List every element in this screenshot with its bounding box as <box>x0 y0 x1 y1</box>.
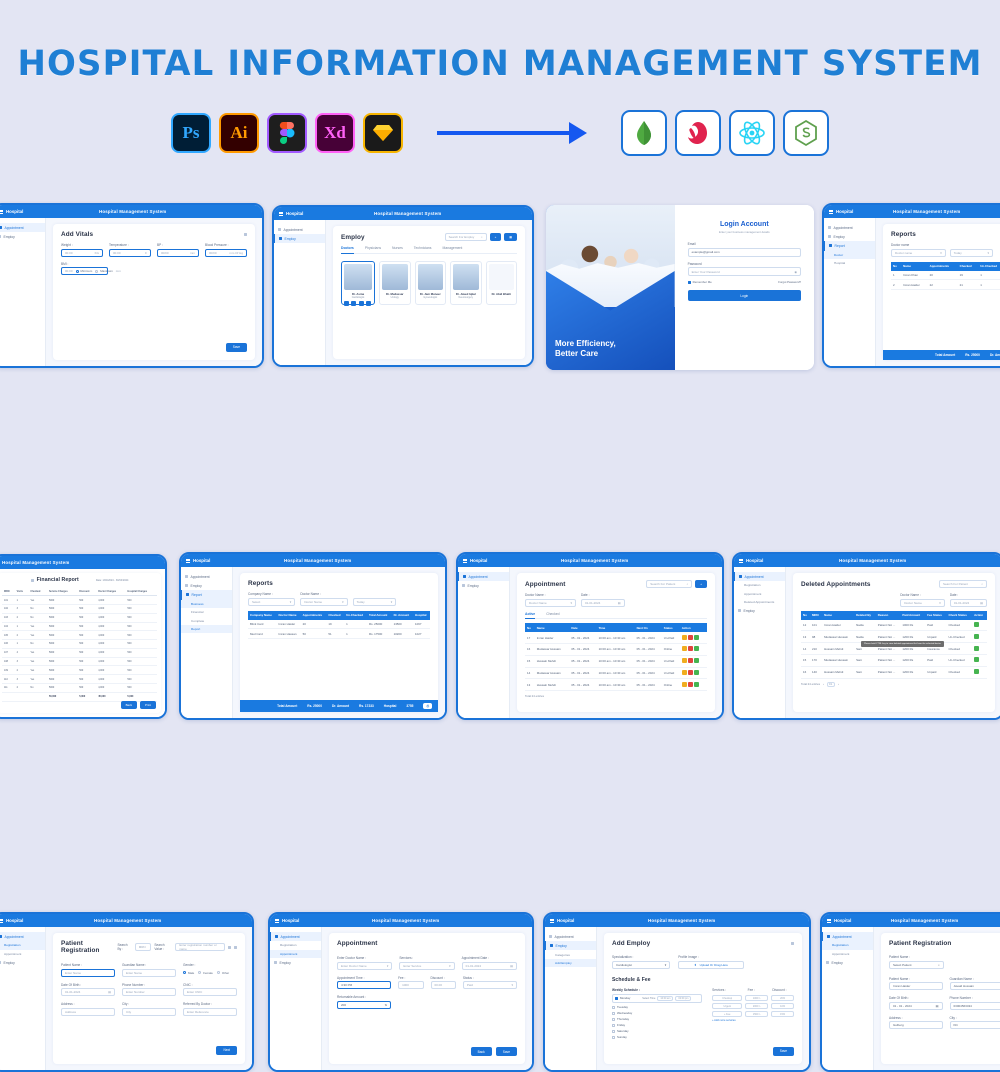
cell: Imran Haider <box>901 280 928 290</box>
search-by-label: Search By : <box>117 943 131 951</box>
tab-doctors[interactable]: Doctors <box>341 246 354 254</box>
sidebar-subitem-add-employ[interactable]: Add Employ <box>545 959 596 967</box>
sidebar-subitem-registration[interactable]: Registration <box>270 941 321 949</box>
field-value: 01-01-2024 <box>65 990 80 994</box>
login-heading: Login Account <box>688 221 801 228</box>
app-title: Hospital Management System <box>303 211 532 216</box>
sidebar-item-employ[interactable]: Employ <box>270 958 321 967</box>
search-by-select[interactable]: MRN <box>135 943 152 951</box>
field-label: Discount : <box>431 976 456 980</box>
sidebar-item-label: Employ <box>556 944 567 948</box>
gender-other-label: Other <box>222 971 229 975</box>
field-label: Gender : <box>183 963 237 967</box>
password-field[interactable]: Enter Your Password ◉ <box>688 267 801 276</box>
field-value: 01-01-2024 <box>466 964 481 968</box>
doctor-photo <box>418 264 444 290</box>
discount-input[interactable]: 20% <box>771 995 794 1001</box>
day-label: Saturday <box>617 1029 629 1033</box>
chevron-down-icon: ▾ <box>387 964 389 968</box>
topbar: Hospital Hospital Management System <box>0 205 262 218</box>
day-checkbox[interactable] <box>612 1036 615 1039</box>
calendar-icon[interactable]: ▤ <box>510 964 513 968</box>
sidebar-subitem-appointment[interactable]: Appointment <box>270 950 321 958</box>
field-label: Address : <box>889 1016 943 1020</box>
panel-title: Add Vitals <box>61 231 93 238</box>
day-checkbox[interactable] <box>612 1012 615 1015</box>
day-row[interactable]: Saturday <box>612 1029 702 1033</box>
bp-field[interactable]: BP : 00/00 mm <box>157 243 199 257</box>
login-tagline: More Efficiency, Better Care <box>555 339 616 359</box>
weekly-schedule-list[interactable]: MondaySelect Time10:00 am02:00 pmTuesday… <box>612 994 702 1040</box>
field-label: Enter Doctor Name : <box>337 956 392 960</box>
gender-male-radio[interactable] <box>183 971 186 974</box>
gender-field[interactable]: Gender : Male Female Other <box>183 963 237 977</box>
field-label: BP : <box>157 243 199 247</box>
field-value[interactable]: Enter Reference <box>183 1008 237 1016</box>
brand-label: Hospital <box>836 209 853 214</box>
field-label: Weight : <box>61 243 103 247</box>
field-value[interactable]: Javaid Hussain <box>950 982 1000 990</box>
field-value[interactable]: Enter CNIC <box>183 988 237 996</box>
search-input[interactable]: Search For Employ ⌕ <box>445 233 487 241</box>
sidebar-item-label: Appointment <box>5 935 24 939</box>
gender-other-radio[interactable] <box>217 971 220 974</box>
phone-field[interactable]: Phone Number : 03004563434 <box>950 996 1000 1010</box>
sidebar-subitem-registration[interactable]: Registration <box>822 941 873 949</box>
app-title: Hospital Management System <box>853 209 1000 214</box>
minimum-label: Minimum <box>81 269 93 273</box>
brand-label: Hospital <box>557 918 574 923</box>
menu-icon[interactable] <box>827 919 831 923</box>
address-field[interactable]: Address : Gulberg <box>889 1016 943 1030</box>
table-row[interactable]: 2 Imran Haider 22 21 1 <box>891 280 1000 290</box>
tagline-line-2: Better Care <box>555 349 616 359</box>
status-field[interactable]: Status : Paid ▾ <box>463 976 517 990</box>
brand-label: Hospital <box>282 918 299 923</box>
sidebar[interactable]: Appointment Registration Appointment Emp… <box>822 927 874 1070</box>
sidebar-item-label: Appointment <box>281 935 300 939</box>
sidebar-item-employ[interactable]: Employ <box>0 232 45 241</box>
city-field[interactable]: City : Khi <box>950 1016 1000 1030</box>
appointment-time-field[interactable]: Appointment Time : 4:30 PM <box>337 976 391 990</box>
returnable-amount-field[interactable]: Returnable Amount : 200 ⇅ <box>337 995 391 1009</box>
field-value: 200 <box>341 1003 346 1007</box>
fee-input[interactable]: 1000 /- <box>745 995 768 1001</box>
stepper-icon[interactable]: ⇅ <box>384 1003 387 1007</box>
sidebar-subitem-appointment[interactable]: Appointment <box>822 950 873 958</box>
chevron-down-icon: ▾ <box>940 251 942 255</box>
login-form[interactable]: Login Account Enter your business manage… <box>675 205 814 370</box>
sidebar-item-label: Employ <box>834 235 845 239</box>
field-label: Appointment Time : <box>337 976 391 980</box>
menu-icon[interactable] <box>275 919 279 923</box>
calendar-icon <box>549 935 552 938</box>
nestjs-icon <box>675 110 721 156</box>
settings-icon[interactable] <box>234 946 237 949</box>
screen-reports-doctor[interactable]: Hospital Hospital Management System Appo… <box>822 203 1000 368</box>
gender-female-label: Female <box>203 971 213 975</box>
dob-field[interactable]: Date Of Birth : 01 - 01 - 2024 ▤ <box>889 996 943 1010</box>
figma-icon <box>267 113 307 153</box>
brand-label: Hospital <box>6 918 23 923</box>
sketch-icon <box>363 113 403 153</box>
minimum-radio[interactable] <box>76 270 79 273</box>
users-icon <box>826 961 829 964</box>
day-row[interactable]: Friday <box>612 1023 702 1027</box>
calendar-icon <box>0 226 2 229</box>
sidebar-subitem-doctor[interactable]: Doctor <box>824 251 875 259</box>
close-icon[interactable] <box>244 233 247 236</box>
cell: 1 <box>978 271 1000 280</box>
delete-icon[interactable] <box>359 301 364 306</box>
field-value[interactable]: Imran Haider <box>889 982 943 990</box>
menu-icon[interactable] <box>0 919 3 923</box>
sidebar-item-appointment[interactable]: Appointment <box>0 932 45 941</box>
users-icon <box>0 961 1 964</box>
tab-nurses[interactable]: Nurses <box>392 246 403 250</box>
field-value[interactable]: 03004563434 <box>950 1002 1000 1010</box>
tab-management[interactable]: Management <box>443 246 463 250</box>
fee-input[interactable]: 2000 /- <box>745 1003 768 1009</box>
gender-female-radio[interactable] <box>198 971 201 974</box>
day-row[interactable]: Tuesday <box>612 1005 702 1009</box>
schedule-icon[interactable] <box>366 301 371 306</box>
field-value[interactable]: 00.00 <box>431 981 456 989</box>
doctor-card-list: Dr. Asma Cardiologist Dr. Mudassa <box>341 261 517 305</box>
field-value: 00.00 <box>65 251 73 255</box>
sidebar-item-label: Appointment <box>5 226 24 230</box>
referred-by-field[interactable]: Referred By Doctor : Enter Reference <box>183 1002 237 1016</box>
field-label: Guardian Name : <box>122 963 176 967</box>
screen-add-employ[interactable]: Hospital Hospital Management System Appo… <box>543 912 811 1072</box>
email-label: Email <box>688 242 801 246</box>
services-field[interactable]: Services : Enter Service ▾ <box>399 956 454 970</box>
field-label: Referred By Doctor : <box>183 1002 237 1006</box>
sidebar[interactable]: Appointment Employ Categories Add Employ <box>545 927 597 1070</box>
employ-tabs[interactable]: Doctors Physicians Nurses Technicians Ma… <box>341 246 517 254</box>
doctor-name: Dr. Javed Iqbal <box>453 292 479 296</box>
doctor-card[interactable]: Dr. Mudassar Urology <box>379 261 411 305</box>
cell: 21 <box>958 280 979 290</box>
field-value: Enter Doctor Name <box>341 964 367 968</box>
column-header: Name <box>901 262 928 271</box>
grid-view-button[interactable]: ▦ <box>504 233 517 241</box>
discount-col-label: Discount : <box>772 988 794 992</box>
cell: 20 <box>928 271 958 280</box>
login-hero: More Efficiency, Better Care <box>546 205 675 370</box>
illustrator-icon: Ai <box>219 113 259 153</box>
doctor-name-field[interactable]: Enter Doctor Name : Enter Doctor Name ▾ <box>337 956 392 970</box>
select-time-label: Select Time <box>642 997 655 1000</box>
users-icon <box>550 944 553 947</box>
sidebar-item-appointment[interactable]: Appointment <box>824 223 875 232</box>
field-unit: mm <box>116 269 121 273</box>
sidebar-item-appointment[interactable]: Appointment <box>274 225 325 234</box>
day-checkbox[interactable] <box>615 997 618 1000</box>
service-input[interactable]: + Fee <box>712 1011 742 1017</box>
panel-title: Appointment <box>337 940 517 947</box>
sidebar-item-employ[interactable]: Employ <box>545 941 596 950</box>
sidebar-item-appointment[interactable]: Appointment <box>0 223 45 232</box>
sidebar[interactable]: Appointment Employ <box>274 220 326 365</box>
address-field[interactable]: Address : Address <box>61 1002 115 1016</box>
login-button[interactable]: Login <box>688 290 801 301</box>
sidebar-subitem-categories[interactable]: Categories <box>545 950 596 958</box>
service-row[interactable]: Checkup1000 /-20% <box>712 995 794 1001</box>
filter-value: Doctor name <box>895 251 912 255</box>
chevron-down-icon: ▾ <box>665 963 667 967</box>
next-button[interactable]: Next <box>216 1046 237 1055</box>
menu-icon[interactable] <box>829 210 833 214</box>
doctor-filter-select[interactable]: Doctor name ▾ <box>891 249 946 257</box>
day-row[interactable]: Thursday <box>612 1017 702 1021</box>
app-title: Hospital Management System <box>851 918 1000 923</box>
bmi-field[interactable]: BMI : 00.00 Minimum Maximum mm <box>61 262 108 276</box>
field-label: Address : <box>61 1002 115 1006</box>
photoshop-icon: Ps <box>171 113 211 153</box>
field-label: City : <box>122 1002 176 1006</box>
vitals-field-row: Weight : 00.00 KG Temperature : 00.00 F … <box>61 243 247 257</box>
service-rows[interactable]: Checkup1000 /-20%Urgent2000 /-10%+ Fee15… <box>712 995 794 1017</box>
field-value[interactable]: Enter Number <box>122 988 176 996</box>
edit-icon[interactable] <box>344 301 349 306</box>
cell: 1 <box>978 280 1000 290</box>
cell: Imran Khan <box>901 271 928 280</box>
field-value: 00.00 <box>113 251 121 255</box>
email-field[interactable]: example@gmail.com <box>688 248 801 257</box>
maximum-label: Maximum <box>100 269 113 273</box>
view-icon[interactable] <box>351 301 356 306</box>
service-row[interactable]: Urgent2000 /-10% <box>712 1003 794 1009</box>
search-value-input[interactable]: Enter registration number or name <box>175 943 225 951</box>
blood-pressure-field[interactable]: Blood Pressure : 00/00 mm Of Hg <box>205 243 247 257</box>
guardian-name-field[interactable]: Guardian Name : Javaid Hussain <box>950 977 1000 991</box>
add-more-services-link[interactable]: + Add more services <box>712 1019 794 1022</box>
sidebar-item-label: Employ <box>832 961 843 965</box>
eye-icon[interactable]: ◉ <box>794 270 797 274</box>
field-value: Cardiologist <box>616 963 632 967</box>
field-value[interactable]: Enter Name <box>61 969 115 977</box>
field-value[interactable]: 4:30 PM <box>337 981 391 989</box>
page-title: HOSPITAL INFORMATION MANAGEMENT SYSTEM <box>15 0 985 84</box>
table-row[interactable]: 1 Imran Khan 20 19 1 <box>891 271 1000 280</box>
day-label: Sunday <box>617 1035 627 1039</box>
column-header: No <box>891 262 901 271</box>
back-button[interactable]: Back <box>471 1047 492 1056</box>
save-button[interactable]: Save <box>496 1047 517 1056</box>
doctor-card[interactable]: Dr. Asma Cardiologist <box>341 261 375 305</box>
field-label: Patient Name : <box>889 977 943 981</box>
field-value[interactable]: 1000 <box>398 981 423 989</box>
discount-field[interactable]: Discount : 00.00 <box>431 976 456 990</box>
panel-title: Employ <box>341 234 365 241</box>
time-from-input[interactable]: 10:00 am <box>657 996 673 1002</box>
settings-icon[interactable] <box>791 942 794 945</box>
day-row[interactable]: Sunday <box>612 1035 702 1039</box>
time-to-input[interactable]: 02:00 pm <box>675 996 691 1002</box>
search-icon[interactable]: ⌕ <box>938 963 940 967</box>
sidebar-item-appointment[interactable]: Appointment <box>270 932 321 941</box>
screen-appointment-form[interactable]: Hospital Hospital Management System Appo… <box>268 912 534 1072</box>
doctor-name: Dr. Jam Muneer <box>418 292 444 296</box>
remember-me-checkbox[interactable] <box>688 281 691 284</box>
day-checkbox[interactable] <box>612 1006 615 1009</box>
fee-col-label: Fee : <box>748 988 770 992</box>
day-row[interactable]: Wednesday <box>612 1011 702 1015</box>
screen-patient-registration-filled[interactable]: Hospital Hospital Management System Appo… <box>820 912 1000 1072</box>
sidebar-item-appointment[interactable]: Appointment <box>545 932 596 941</box>
doctor-card[interactable]: Dr. Jam Muneer Gynecologist <box>415 261 447 305</box>
day-label: Monday <box>620 996 630 1000</box>
menu-icon[interactable] <box>0 210 3 214</box>
field-label: Phone Number : <box>122 983 176 987</box>
tech-transition-row: Ps Ai Xd <box>0 106 1000 160</box>
table-header-row: No Name Appointments Checked Un-Checked <box>891 262 1000 271</box>
gender-male-label: Male <box>188 971 194 975</box>
sidebar-item-employ[interactable]: Employ <box>824 232 875 241</box>
day-checkbox[interactable] <box>612 1030 615 1033</box>
field-unit: mm Of Hg <box>229 251 243 255</box>
sidebar[interactable]: Appointment Registration Appointment Emp… <box>270 927 322 1070</box>
sidebar[interactable]: Appointment Registration Appointment Emp… <box>0 927 46 1070</box>
remember-me-label: Remember Me <box>693 280 712 284</box>
tab-technicians[interactable]: Technicians <box>414 246 432 250</box>
screen-patient-registration[interactable]: Hospital Hospital Management System Appo… <box>0 912 254 1072</box>
sidebar-item-label: Appointment <box>555 935 574 939</box>
temperature-field[interactable]: Temperature : 00.00 F <box>109 243 151 257</box>
bell-icon[interactable] <box>228 946 231 949</box>
field-value[interactable]: Gulberg <box>889 1021 943 1029</box>
sidebar-subitem-registration[interactable]: Registration <box>0 941 45 949</box>
field-value[interactable]: Enter Name <box>122 969 176 977</box>
weight-field[interactable]: Weight : 00.00 KG <box>61 243 103 257</box>
field-label: CNIC : <box>183 983 237 987</box>
field-label: Patient Name : <box>889 955 944 959</box>
chevron-down-icon: ▾ <box>449 964 451 968</box>
screen-login[interactable]: More Efficiency, Better Care Login Accou… <box>546 205 814 370</box>
screen-employ[interactable]: Hospital Hospital Management System Appo… <box>272 205 534 367</box>
panel-title: Add Employ <box>612 940 650 947</box>
day-checkbox[interactable] <box>612 1018 615 1021</box>
tech-stack-group <box>621 110 829 156</box>
patient-search-field[interactable]: Patient Name : Select Patient ⌕ <box>889 955 944 969</box>
field-label: City : <box>950 1016 1000 1020</box>
field-label: Services : <box>399 956 454 960</box>
sidebar[interactable]: Appointment Employ Report Doctor Hospita… <box>824 218 876 366</box>
tab-physicians[interactable]: Physicians <box>365 246 381 250</box>
profile-image-field[interactable]: Profile Image : ⬆ Upload Or Drag Here <box>678 955 744 969</box>
discount-input[interactable]: 15% <box>771 1011 794 1017</box>
cnic-field[interactable]: CNIC : Enter CNIC <box>183 983 237 997</box>
field-value: 00.00 <box>65 269 73 273</box>
fee-field[interactable]: Fee : 1000 <box>398 976 423 990</box>
sidebar-item-employ[interactable]: Employ <box>274 234 325 243</box>
patient-name-field[interactable]: Patient Name : Enter Name <box>61 963 115 977</box>
calendar-icon[interactable]: ▤ <box>936 1004 939 1008</box>
doctor-card-placeholder[interactable]: Dr. Abid Bhatti <box>486 261 518 305</box>
fee-input[interactable]: 1500 /- <box>745 1011 768 1017</box>
field-value[interactable]: Khi <box>950 1021 1000 1029</box>
login-subheading: Enter your business management details <box>688 230 801 234</box>
maximum-radio[interactable] <box>95 270 98 273</box>
search-icon[interactable]: ⌕ <box>481 235 483 239</box>
field-value[interactable]: City <box>122 1008 176 1016</box>
save-button[interactable]: Save <box>226 343 247 352</box>
field-value: Paid <box>467 983 473 987</box>
doctor-photo <box>344 264 372 290</box>
field-value[interactable]: Address <box>61 1008 115 1016</box>
sidebar-subitem-appointment[interactable]: Appointment <box>0 950 45 958</box>
doctor-role: Neurosurgery <box>453 296 479 299</box>
discount-input[interactable]: 10% <box>771 1003 794 1009</box>
city-field[interactable]: City : City <box>122 1002 176 1016</box>
cell: 2 <box>891 280 901 290</box>
column-header: Appointments <box>928 262 958 271</box>
field-label: Date Of Birth : <box>889 996 943 1000</box>
specialization-field[interactable]: Specialization : Cardiologist ▾ <box>612 955 670 969</box>
service-input[interactable]: Checkup <box>712 995 742 1001</box>
upload-button[interactable]: ⬆ Upload Or Drag Here <box>678 961 744 969</box>
doctor-name: Dr. Mudassar <box>382 292 408 296</box>
sidebar-subitem-hospital[interactable]: Hospital <box>824 259 875 267</box>
field-label: Profile Image : <box>678 955 744 959</box>
menu-icon[interactable] <box>550 919 554 923</box>
doctor-card[interactable]: Dr. Javed Iqbal Neurosurgery <box>450 261 482 305</box>
day-checkbox[interactable] <box>612 1024 615 1027</box>
dob-field[interactable]: Date Of Birth : 01-01-2024 ▤ <box>61 983 115 997</box>
sidebar-item-appointment[interactable]: Appointment <box>822 932 873 941</box>
menu-icon[interactable] <box>279 212 283 216</box>
cell: 1 <box>891 271 901 280</box>
report-icon <box>829 244 832 247</box>
save-button[interactable]: Save <box>773 1047 794 1056</box>
day-label: Friday <box>617 1023 625 1027</box>
screen-add-vitals[interactable]: Hospital Hospital Management System Appo… <box>0 203 264 368</box>
day-label: Wednesday <box>617 1011 632 1015</box>
forgot-password-link[interactable]: Forgot Password? <box>778 280 801 284</box>
patient-name-field[interactable]: Patient Name : Imran Haider <box>889 977 943 991</box>
field-unit: KG <box>95 251 99 255</box>
field-label: Patient Name : <box>61 963 115 967</box>
doctor-role: Cardiologist <box>344 296 372 299</box>
design-tools-group: Ps Ai Xd <box>171 113 403 153</box>
sidebar[interactable]: Appointment Employ <box>0 218 46 366</box>
sidebar-item-label: Appointment <box>834 226 853 230</box>
password-placeholder: Enter Your Password <box>692 270 720 274</box>
appointment-date-field[interactable]: Appointment Date : 01-01-2024 ▤ <box>462 956 517 970</box>
field-label: Fee : <box>398 976 423 980</box>
service-row[interactable]: + Fee1500 /-15% <box>712 1011 794 1017</box>
panel-title: Reports <box>891 231 1000 238</box>
react-icon <box>729 110 775 156</box>
service-input[interactable]: Urgent <box>712 1003 742 1009</box>
email-value: example@gmail.com <box>692 250 720 254</box>
day-row[interactable]: MondaySelect Time10:00 am02:00 pm <box>612 994 702 1004</box>
field-value: Select Patient <box>893 963 912 967</box>
doctor-filter-label: Doctor name <box>891 243 946 247</box>
phone-field[interactable]: Phone Number : Enter Number <box>122 983 176 997</box>
sidebar-item-employ[interactable]: Employ <box>822 958 873 967</box>
date-filter-select[interactable]: Today ▾ <box>950 249 993 257</box>
sidebar-item-employ[interactable]: Employ <box>0 958 45 967</box>
sidebar-item-report[interactable]: Report <box>824 241 875 250</box>
column-header: Un-Checked <box>978 262 1000 271</box>
calendar-icon[interactable]: ▤ <box>108 990 111 994</box>
guardian-name-field[interactable]: Guardian Name : Enter Name <box>122 963 176 977</box>
placeholder-photo <box>489 264 515 290</box>
add-employ-button[interactable]: + <box>490 233 502 241</box>
app-title: Hospital Management System <box>574 918 809 923</box>
